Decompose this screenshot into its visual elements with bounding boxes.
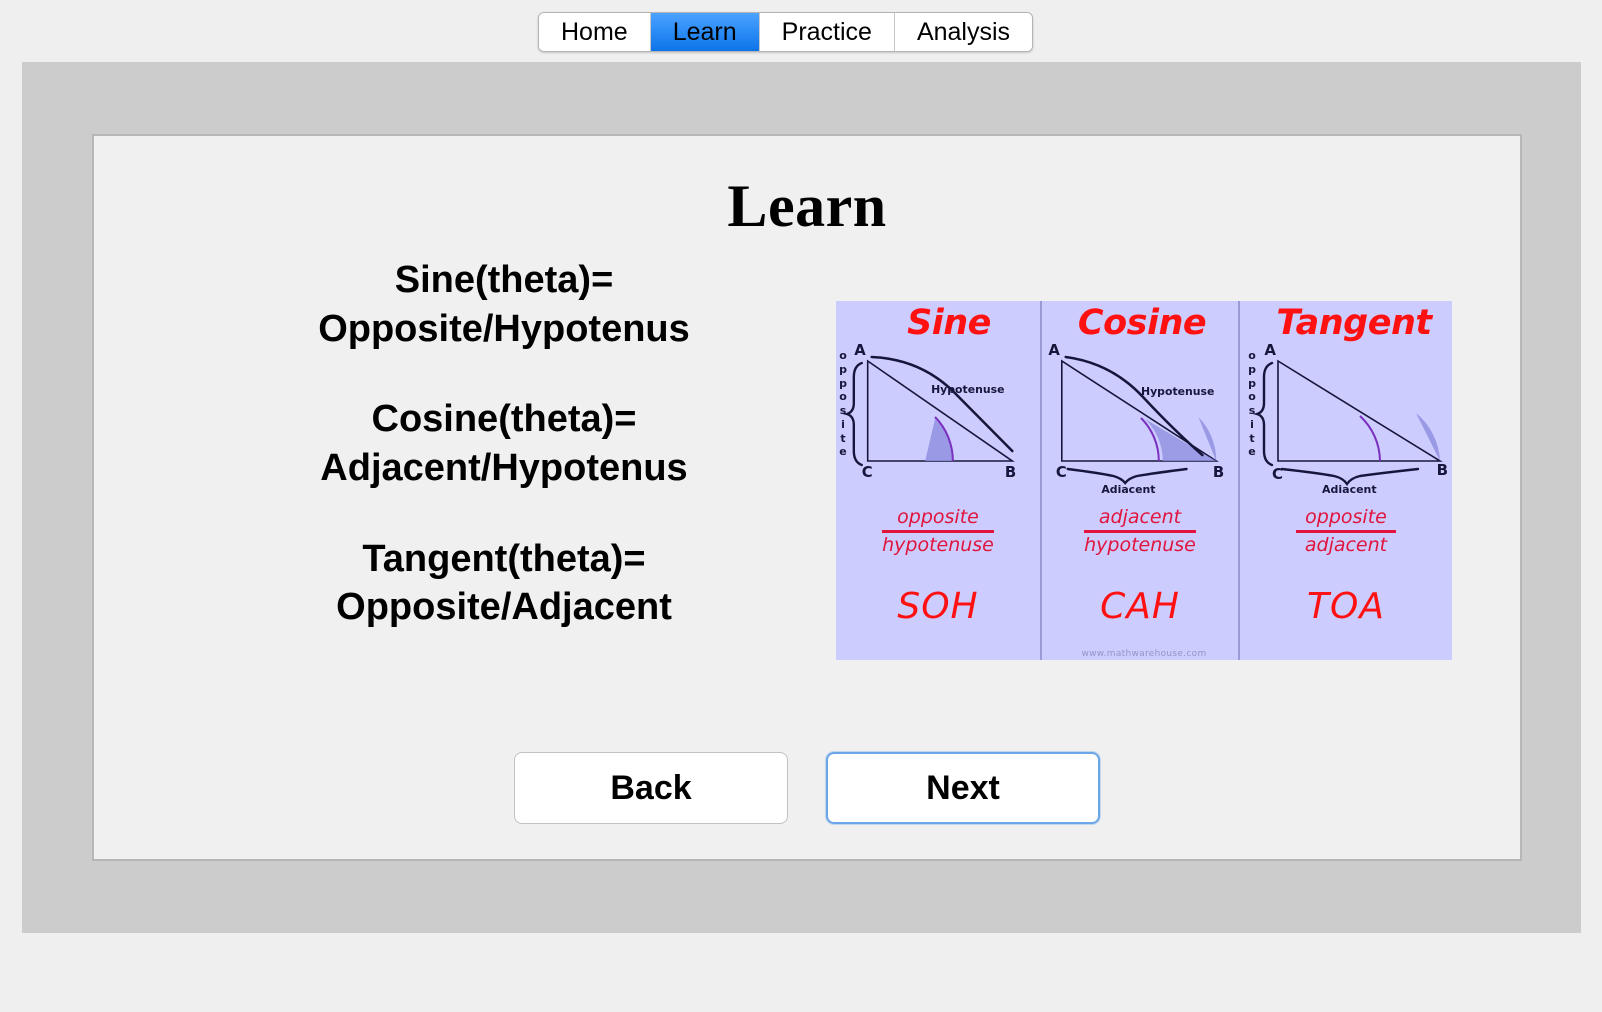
diagram-panel-cosine: Cosine A C B Hypotenuse Adjacent: [1042, 301, 1240, 660]
diagram-tangent-numerator: opposite: [1240, 506, 1452, 528]
svg-text:C: C: [862, 463, 873, 481]
formula-cosine: Cosine(theta)= Adjacent/Hypotenus: [184, 395, 824, 492]
svg-text:C: C: [1272, 465, 1283, 483]
svg-text:Adjacent: Adjacent: [1322, 483, 1377, 493]
diagram-tangent-denominator: adjacent: [1240, 534, 1452, 556]
diagram-cosine-fraction-bar: [1084, 530, 1196, 533]
navigation-button-row: Back Next: [94, 752, 1520, 824]
diagram-panel-tangent-title: Tangent: [1240, 303, 1452, 343]
diagram-watermark: www.mathwarehouse.com: [836, 649, 1452, 659]
page-title: Learn: [94, 172, 1520, 241]
diagram-panel-cosine-title: Cosine: [1042, 303, 1238, 343]
svg-text:Adjacent: Adjacent: [1101, 483, 1155, 493]
svg-text:A: A: [1048, 343, 1060, 359]
diagram-sine-numerator: opposite: [836, 506, 1040, 528]
tab-analysis[interactable]: Analysis: [895, 13, 1032, 51]
content-panel-background: Learn Sine(theta)= Opposite/Hypotenus Co…: [22, 62, 1581, 933]
svg-text:B: B: [1005, 463, 1016, 481]
diagram-sine-triangle: A C B Hypotenuse: [836, 343, 1040, 493]
diagram-tangent-fraction-bar: [1296, 530, 1396, 533]
diagram-sine-fraction: opposite hypotenuse: [836, 506, 1040, 556]
tab-learn[interactable]: Learn: [651, 13, 760, 51]
svg-text:Hypotenuse: Hypotenuse: [931, 383, 1004, 396]
next-button[interactable]: Next: [826, 752, 1100, 824]
tab-home[interactable]: Home: [539, 13, 651, 51]
svg-text:B: B: [1213, 463, 1224, 481]
diagram-cosine-triangle: A C B Hypotenuse Adjacent: [1042, 343, 1238, 493]
formula-cosine-line1: Cosine(theta)=: [184, 395, 824, 444]
diagram-sine-fraction-bar: [882, 530, 994, 533]
tab-practice[interactable]: Practice: [760, 13, 895, 51]
diagram-panel-sine: Sine opposite A C B Hypotenuse: [836, 301, 1042, 660]
formula-sine-line1: Sine(theta)=: [184, 256, 824, 305]
formula-cosine-line2: Adjacent/Hypotenus: [184, 444, 824, 493]
formula-list: Sine(theta)= Opposite/Hypotenus Cosine(t…: [184, 256, 824, 632]
lesson-card: Learn Sine(theta)= Opposite/Hypotenus Co…: [92, 134, 1522, 861]
formula-sine: Sine(theta)= Opposite/Hypotenus: [184, 256, 824, 353]
diagram-sine-denominator: hypotenuse: [836, 534, 1040, 556]
formula-tangent-line2: Opposite/Adjacent: [184, 583, 824, 632]
formula-sine-line2: Opposite/Hypotenus: [184, 305, 824, 354]
diagram-tangent-mnemonic: TOA: [1240, 586, 1452, 627]
formula-tangent-line1: Tangent(theta)=: [184, 535, 824, 584]
svg-text:A: A: [854, 343, 866, 359]
status-strip: [22, 933, 1581, 979]
svg-text:Hypotenuse: Hypotenuse: [1141, 385, 1214, 398]
svg-text:B: B: [1437, 461, 1448, 479]
formula-tangent: Tangent(theta)= Opposite/Adjacent: [184, 535, 824, 632]
diagram-panel-sine-title: Sine: [836, 303, 1040, 343]
back-button[interactable]: Back: [514, 752, 788, 824]
diagram-cosine-denominator: hypotenuse: [1042, 534, 1238, 556]
diagram-cosine-fraction: adjacent hypotenuse: [1042, 506, 1238, 556]
sohcahtoa-diagram-image: Sine opposite A C B Hypotenuse: [836, 301, 1452, 660]
tabbar-region: Home Learn Practice Analysis: [0, 0, 1602, 57]
diagram-tangent-triangle: A C B Adjacent: [1240, 343, 1452, 493]
diagram-sine-mnemonic: SOH: [836, 586, 1040, 627]
svg-text:C: C: [1056, 463, 1067, 481]
application-window: Home Learn Practice Analysis Learn Sine(…: [0, 0, 1602, 1012]
diagram-tangent-fraction: opposite adjacent: [1240, 506, 1452, 556]
svg-text:A: A: [1264, 343, 1276, 359]
diagram-cosine-mnemonic: CAH: [1042, 586, 1238, 627]
diagram-cosine-numerator: adjacent: [1042, 506, 1238, 528]
main-tabbar: Home Learn Practice Analysis: [538, 12, 1033, 52]
diagram-panel-tangent: Tangent opposite A C B Adjacent: [1240, 301, 1452, 660]
